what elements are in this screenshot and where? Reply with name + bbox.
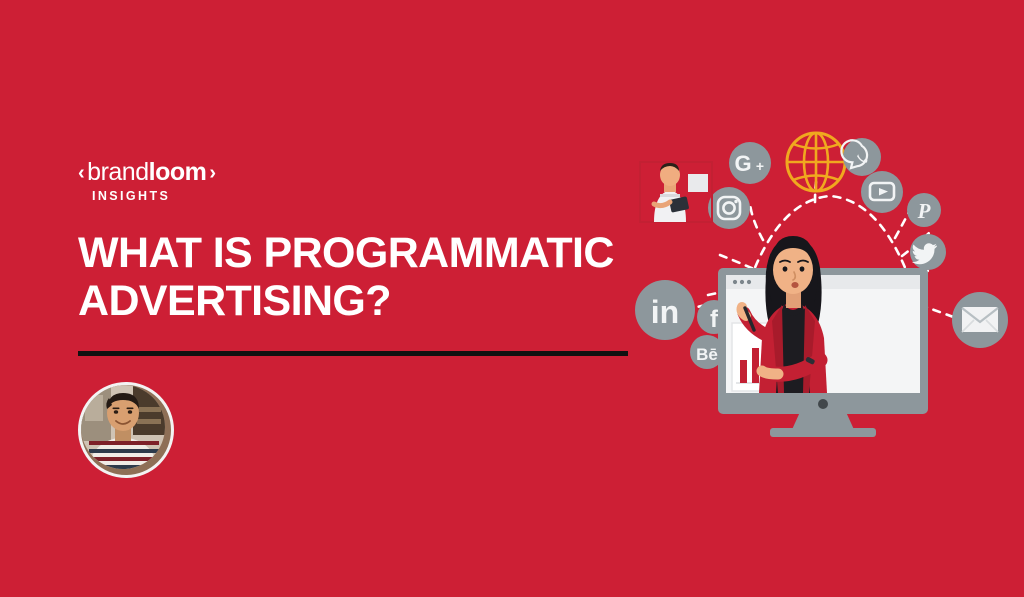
left-content-block: ‹ brand loom › INSIGHTS WHAT IS PROGRAMM… xyxy=(78,160,678,478)
framed-person-thumbnail xyxy=(640,162,712,222)
whatsapp-icon xyxy=(841,138,881,176)
pinterest-icon: P xyxy=(907,193,941,227)
hero-illustration: G + xyxy=(630,120,1024,460)
instagram-icon xyxy=(708,187,750,229)
svg-text:f: f xyxy=(710,306,719,333)
twitter-icon xyxy=(910,234,946,270)
chevron-right-icon: › xyxy=(209,163,215,183)
avatar-portrait-image xyxy=(81,385,165,469)
author-avatar xyxy=(78,382,174,478)
chevron-left-icon: ‹ xyxy=(78,163,84,183)
svg-text:G: G xyxy=(734,151,751,176)
google-plus-icon: G + xyxy=(729,142,771,184)
brandloom-logo[interactable]: ‹ brand loom › INSIGHTS xyxy=(78,160,318,203)
globe-icon xyxy=(787,133,845,191)
title-divider xyxy=(78,351,628,356)
banner-root: ‹ brand loom › INSIGHTS WHAT IS PROGRAMM… xyxy=(0,0,1024,597)
email-icon xyxy=(952,292,1008,348)
svg-text:in: in xyxy=(651,294,679,330)
browser-titlebar xyxy=(726,275,920,289)
logo-word-loom: loom xyxy=(149,160,207,185)
monitor-base xyxy=(770,428,876,437)
logo-subtitle: INSIGHTS xyxy=(92,189,318,203)
page-title: WHAT IS PROGRAMMATIC ADVERTISING? xyxy=(78,229,658,325)
monitor-power-dot xyxy=(818,399,828,409)
linkedin-icon: in xyxy=(635,280,695,340)
browser-dots-icon xyxy=(733,280,751,284)
svg-text:Bē: Bē xyxy=(696,345,718,364)
svg-text:P: P xyxy=(917,199,931,223)
logo-word-brand: brand xyxy=(87,160,148,185)
logo-wordmark: ‹ brand loom › xyxy=(78,160,318,185)
youtube-icon xyxy=(861,171,903,213)
illustration-svg: G + xyxy=(630,120,1024,460)
svg-text:+: + xyxy=(756,158,764,174)
